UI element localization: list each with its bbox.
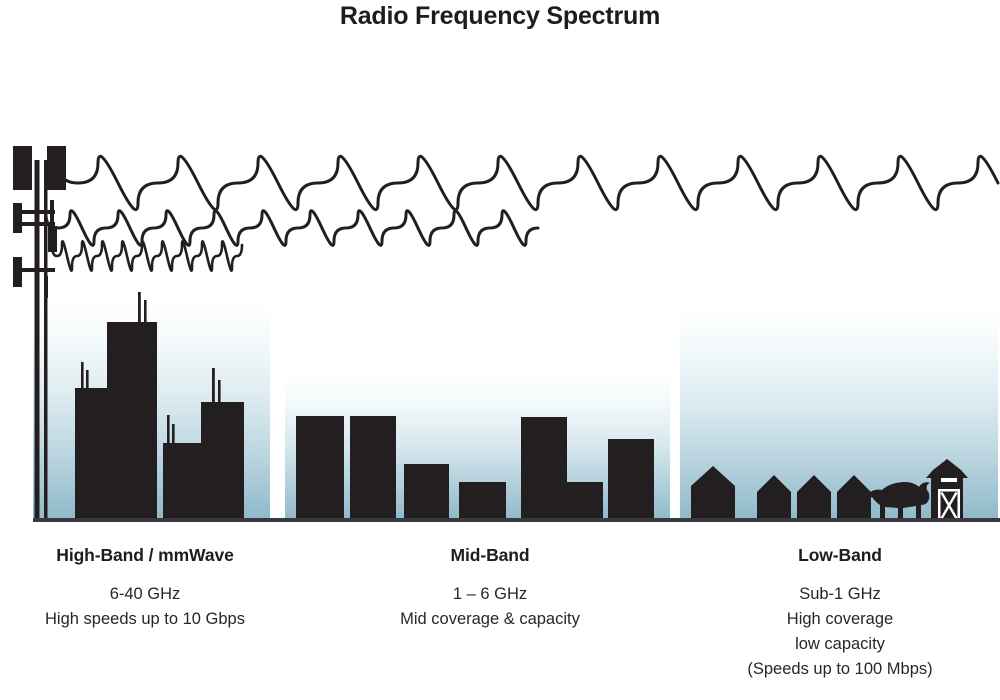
building-block (350, 416, 396, 520)
radio-waves (46, 156, 998, 270)
band-label-group: High-Band / mmWave 6-40 GHz High speeds … (0, 545, 1000, 700)
building-block (404, 464, 449, 520)
band-speed-high-band: High speeds up to 10 Gbps (0, 607, 290, 632)
band-column-mid-band: Mid-Band 1 – 6 GHz Mid coverage & capaci… (340, 545, 640, 632)
radio-wave-medium-icon (46, 211, 538, 246)
band-capacity-low-band: low capacity (690, 632, 990, 657)
radio-wave-short-icon (52, 241, 242, 270)
building-block (608, 439, 654, 520)
building-block (459, 482, 506, 520)
band-frequency-mid-band: 1 – 6 GHz (340, 582, 640, 607)
band-description-high-band: 6-40 GHz High speeds up to 10 Gbps (0, 582, 290, 632)
band-column-low-band: Low-Band Sub-1 GHz High coverage low cap… (690, 545, 990, 682)
band-frequency-high-band: 6-40 GHz (0, 582, 290, 607)
infographic-canvas: Radio Frequency Spectrum (0, 0, 1000, 700)
band-description-low-band: Sub-1 GHz High coverage low capacity (Sp… (690, 582, 990, 682)
band-title-low-band: Low-Band (690, 545, 990, 566)
building-block (296, 416, 344, 520)
building-block (567, 482, 603, 520)
band-column-high-band: High-Band / mmWave 6-40 GHz High speeds … (0, 545, 290, 632)
band-speed-mid-band: Mid coverage & capacity (340, 607, 640, 632)
ground-line (33, 518, 1000, 522)
spectrum-illustration (0, 0, 1000, 545)
band-frequency-low-band: Sub-1 GHz (690, 582, 990, 607)
building-block (521, 417, 567, 520)
band-coverage-low-band: High coverage (690, 607, 990, 632)
band-description-mid-band: 1 – 6 GHz Mid coverage & capacity (340, 582, 640, 632)
radio-wave-long-icon (58, 156, 998, 209)
skyscraper-icon (107, 292, 157, 520)
band-title-mid-band: Mid-Band (340, 545, 640, 566)
band-speed-low-band: (Speeds up to 100 Mbps) (690, 657, 990, 682)
band-title-high-band: High-Band / mmWave (0, 545, 290, 566)
